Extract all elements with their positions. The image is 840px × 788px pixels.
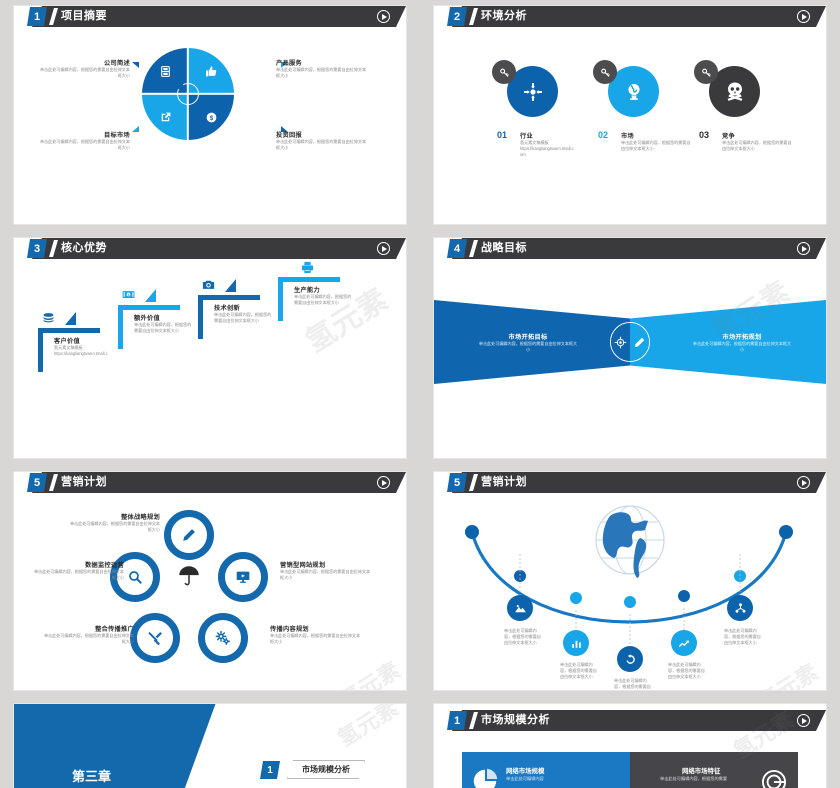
slide-5-canvas: 5 营销计划 整体战略 (14, 472, 406, 690)
flower-label-content-desc: 单击此处可编辑内容，根据您的需要自由拉伸文本框大小 (270, 633, 362, 645)
panel-market-feature[interactable]: 网络市场特征 单击此处可编辑内容，根据您的需要 (630, 752, 798, 788)
arc-icon-1[interactable] (563, 630, 589, 656)
step-3-desc: 单击此处可编辑内容，根据您的需要自由拉伸文本框大小 (214, 312, 272, 324)
step-3-title: 技术创新 (214, 303, 272, 312)
label-product-title: 产品服务 (276, 58, 368, 67)
flower-label-strategy-title: 整体战略规划 (68, 512, 160, 521)
flower-label-promotion: 整合传播推广 单击此处可编辑内容，根据您的需要自由拉伸文本框大小 (42, 624, 134, 645)
flower-label-website: 营销型网站规划 单击此处可编辑内容，根据您的需要自由拉伸文本框大小 (280, 560, 372, 581)
step-2-icon-wrap: $ (121, 287, 136, 302)
slide-3-canvas: 3 核心优势 客户价值 氢元素文稿模板 https://kangliangtuw… (14, 238, 406, 458)
label-company: 公司简述 单击此处可编辑内容，根据您的需要自由拉伸文本框大小 (38, 58, 130, 79)
mountain-icon (514, 602, 527, 615)
play-icon[interactable] (797, 242, 810, 255)
play-icon[interactable] (797, 476, 810, 489)
page-title: 市场规模分析 (481, 710, 550, 731)
caption-industry-title: 行业 (520, 131, 592, 140)
flower-label-promotion-title: 整合传播推广 (42, 624, 134, 633)
watermark: 氢元素 (331, 704, 404, 753)
pointer-top-left (132, 62, 139, 68)
bowtie-left-desc: 单击此处可编辑内容，根据您的需要自由拉伸文本框大小 (478, 341, 578, 353)
pencil-icon (633, 336, 646, 349)
play-icon[interactable] (797, 714, 810, 727)
key-badge-3 (694, 60, 718, 84)
arc-node-3 (624, 596, 636, 608)
slide-2-canvas: 2 环境分析 (434, 6, 826, 224)
caption-competition-title: 竞争 (722, 131, 794, 140)
arrows-center-icon (521, 80, 545, 104)
step-1-stem (38, 328, 43, 372)
label-product-desc: 单击此处可编辑内容，根据您的需要自由拉伸文本框大小 (276, 67, 368, 79)
arc-icon-2[interactable] (617, 646, 643, 672)
step-2-title: 额外价值 (134, 313, 192, 322)
slide-2-header: 2 环境分析 (434, 6, 826, 27)
play-icon[interactable] (797, 10, 810, 23)
umbrella-icon (176, 563, 202, 589)
arc-node-6 (779, 525, 793, 539)
target-icon (614, 336, 627, 349)
slide-4[interactable]: 4 战略目标 市场开拓目标 单击此处可编辑内 (420, 232, 840, 466)
slide-number-badge: 5 (27, 473, 47, 492)
line-chart-icon (678, 637, 691, 650)
camera-icon (201, 277, 216, 292)
key-badge-1 (492, 60, 516, 84)
slide-1-header: 1 项目摘要 (14, 6, 406, 27)
bowtie-left-caption: 市场开拓目标 单击此处可编辑内容，根据您的需要自由拉伸文本框大小 (478, 332, 578, 353)
bowtie-right-caption: 市场开拓规划 单击此处可编辑内容，根据您的需要自由拉伸文本框大小 (692, 332, 792, 353)
pointer-bottom-left (132, 126, 139, 132)
key-icon (499, 67, 510, 78)
arc-caption-3: 单击此处可编辑内容，根据您的需要自由拉伸文本框大小 (668, 662, 706, 680)
slide-number-badge: 2 (447, 7, 467, 26)
external-link-icon (159, 111, 172, 124)
caption-competition-desc: 单击此处可编辑内容，根据您的需要自由拉伸文本框大小 (722, 140, 794, 152)
bowtie-center-left (611, 323, 630, 361)
panel-market-size[interactable]: 网络市场规模 单击此处可编辑内容 (462, 752, 630, 788)
slide-7[interactable]: 第三章 1 市场规模分析 氢元素 (0, 698, 420, 788)
flower-label-promotion-desc: 单击此处可编辑内容，根据您的需要自由拉伸文本框大小 (42, 633, 134, 645)
number-02: 02 (598, 130, 608, 140)
quadrant-pie-chart: $ (142, 48, 234, 140)
slide-5[interactable]: 5 营销计划 整体战略 (0, 466, 420, 698)
flower-label-content-title: 传播内容规划 (270, 624, 362, 633)
slide-1[interactable]: 1 项目摘要 $ (0, 0, 420, 232)
panel-market-feature-title: 网络市场特征 (682, 766, 720, 775)
chapter-heading: 第三章 (72, 766, 111, 785)
step-3-icon-wrap (201, 277, 216, 292)
arc-node-2 (570, 592, 582, 604)
search-icon (127, 569, 143, 585)
circle-target-icon-wrap (760, 768, 788, 788)
caption-market-title: 市场 (621, 131, 693, 140)
page-title: 战略目标 (481, 238, 527, 259)
step-4-icon-wrap (300, 260, 315, 275)
thumbs-up-icon (205, 65, 218, 78)
printer-icon (300, 260, 315, 275)
caption-market-desc: 单击此处可编辑内容，根据您的需要自由拉伸文本框大小 (621, 140, 693, 152)
arc-caption-4: 单击此处可编辑内容，根据您的需要自由拉伸文本框大小 (724, 628, 762, 646)
label-roi-desc: 单击此处可编辑内容，根据您的需要自由拉伸文本框大小 (276, 139, 368, 151)
slide-grid: 1 项目摘要 $ (0, 0, 840, 788)
step-1-line2: https://kangliangtuwen.tmall.c (54, 351, 112, 357)
step-3-stem (198, 295, 203, 339)
arc-caption-0: 单击此处可编辑内容，根据您的需要自由拉伸文本框大小 (504, 628, 542, 646)
slide-8-canvas: 1 市场规模分析 网络市场规模 单击此处可编辑内容 网络市场特征 单击此处可编辑… (434, 704, 826, 788)
duo-panel: 网络市场规模 单击此处可编辑内容 网络市场特征 单击此处可编辑内容，根据您的需要 (462, 752, 798, 788)
slide-3[interactable]: 3 核心优势 客户价值 氢元素文稿模板 https://kangliangtuw… (0, 232, 420, 466)
label-company-desc: 单击此处可编辑内容，根据您的需要自由拉伸文本框大小 (38, 67, 130, 79)
panel-market-size-desc: 单击此处可编辑内容 (506, 776, 596, 782)
slide-number-badge: 5 (447, 473, 467, 492)
arc-icon-3[interactable] (671, 630, 697, 656)
bowtie-center-circle (610, 322, 650, 362)
flower-label-data-title: 数据监控运营 (32, 560, 124, 569)
slide-6[interactable]: 5 营销计划 (420, 466, 840, 698)
slide-number-badge: 1 (27, 7, 47, 26)
slide-number-badge: 3 (27, 239, 47, 258)
globe-illustration (596, 506, 664, 578)
chapter-blue-shape (14, 704, 218, 788)
bowtie-center-right (630, 323, 649, 361)
flower-label-website-title: 营销型网站规划 (280, 560, 372, 569)
refresh-icon (624, 653, 637, 666)
flower-label-website-desc: 单击此处可编辑内容，根据您的需要自由拉伸文本框大小 (280, 569, 372, 581)
pie-segment-icon (470, 766, 500, 788)
step-4-bar (278, 277, 340, 282)
key-badge-2 (593, 60, 617, 84)
film-icon (159, 65, 172, 78)
slide-8[interactable]: 1 市场规模分析 网络市场规模 单击此处可编辑内容 网络市场特征 单击此处可编辑… (420, 698, 840, 788)
pencil-icon (181, 527, 197, 543)
caption-industry: 行业 氢元素文稿模板 https://kangliangtuwen.tmall.… (520, 131, 592, 158)
arc-node-4 (678, 590, 690, 602)
step-4-caption: 生产能力 单击此处可编辑内容，根据您的需要自由拉伸文本框大小 (294, 285, 352, 306)
flower-label-data-desc: 单击此处可编辑内容，根据您的需要自由拉伸文本框大小 (32, 569, 124, 581)
page-title: 营销计划 (61, 472, 107, 493)
pie-segment-icon-wrap (470, 766, 500, 788)
panel-market-feature-desc: 单击此处可编辑内容，根据您的需要 (660, 776, 760, 782)
slide-number-badge: 1 (447, 711, 467, 730)
tools-icon (147, 630, 163, 646)
caption-competition: 竞争 单击此处可编辑内容，根据您的需要自由拉伸文本框大小 (722, 131, 794, 152)
slide-2[interactable]: 2 环境分析 (420, 0, 840, 232)
step-2-caption: 额外价值 单击此处可编辑内容，根据您的需要自由拉伸文本框大小 (134, 313, 192, 334)
label-target-market-title: 目标市场 (38, 130, 130, 139)
panel-market-size-title: 网络市场规模 (506, 766, 544, 775)
step-1-caption: 客户价值 氢元素文稿模板 https://kangliangtuwen.tmal… (54, 336, 112, 357)
petal-content[interactable] (198, 613, 248, 663)
page-title: 环境分析 (481, 6, 527, 27)
play-icon[interactable] (377, 242, 390, 255)
flower-label-data: 数据监控运营 单击此处可编辑内容，根据您的需要自由拉伸文本框大小 (32, 560, 124, 581)
network-icon (734, 602, 747, 615)
slide-5-header: 5 营销计划 (14, 472, 406, 493)
slide-7-canvas: 第三章 1 市场规模分析 氢元素 (14, 704, 406, 788)
petal-strategy[interactable] (164, 510, 214, 560)
gears-icon (215, 630, 231, 646)
play-icon[interactable] (377, 476, 390, 489)
petal-website[interactable] (218, 552, 268, 602)
flower-label-strategy-desc: 单击此处可编辑内容，根据您的需要自由拉伸文本框大小 (68, 521, 160, 533)
slide-4-canvas: 4 战略目标 市场开拓目标 单击此处可编辑内 (434, 238, 826, 458)
arc-icon-4[interactable] (727, 595, 753, 621)
page-title: 项目摘要 (61, 6, 107, 27)
chapter-tag-label: 市场规模分析 (287, 760, 365, 779)
key-icon (701, 67, 712, 78)
step-2-stem (118, 305, 123, 349)
slide-8-header: 1 市场规模分析 (434, 710, 826, 731)
chapter-tag-number: 1 (260, 761, 280, 779)
dollar-coin-icon: $ (205, 111, 218, 124)
slide-3-header: 3 核心优势 (14, 238, 406, 259)
arc-icon-0[interactable] (507, 595, 533, 621)
step-1-icon-wrap (41, 310, 56, 325)
slide-6-canvas: 5 营销计划 (434, 472, 826, 690)
arc-caption-1: 单击此处可编辑内容，根据您的需要自由拉伸文本框大小 (560, 662, 598, 680)
slide-1-canvas: 1 项目摘要 $ (14, 6, 406, 224)
caption-industry-line3: om (520, 152, 592, 158)
flower-label-content: 传播内容规划 单击此处可编辑内容，根据您的需要自由拉伸文本框大小 (270, 624, 362, 645)
bowtie-right-desc: 单击此处可编辑内容，根据您的需要自由拉伸文本框大小 (692, 341, 792, 353)
step-1-bar (38, 328, 100, 333)
page-title: 核心优势 (61, 238, 107, 259)
label-target-market-desc: 单击此处可编辑内容，根据您的需要自由拉伸文本框大小 (38, 139, 130, 151)
slide-number-badge: 4 (447, 239, 467, 258)
step-3-bar (198, 295, 260, 300)
caption-market: 市场 单击此处可编辑内容，根据您的需要自由拉伸文本框大小 (621, 131, 693, 152)
step-2-desc: 单击此处可编辑内容，根据您的需要自由拉伸文本框大小 (134, 322, 192, 334)
skull-icon (723, 80, 747, 104)
arc-node-0 (465, 525, 479, 539)
money-bill-icon: $ (121, 287, 136, 302)
circle-target-icon (760, 768, 788, 788)
globe-stand-icon (622, 80, 646, 104)
petal-promotion[interactable] (130, 613, 180, 663)
monitor-play-icon (235, 569, 251, 585)
step-4-desc: 单击此处可编辑内容，根据您的需要自由拉伸文本框大小 (294, 294, 352, 306)
step-4-stem (278, 277, 283, 321)
bowtie-right-title: 市场开拓规划 (692, 332, 792, 341)
step-1-title: 客户价值 (54, 336, 112, 345)
step-3-caption: 技术创新 单击此处可编辑内容，根据您的需要自由拉伸文本框大小 (214, 303, 272, 324)
label-target-market: 目标市场 单击此处可编辑内容，根据您的需要自由拉伸文本框大小 (38, 130, 130, 151)
svg-text:$: $ (128, 293, 130, 297)
label-roi: 投资回报 单击此处可编辑内容，根据您的需要自由拉伸文本框大小 (276, 130, 368, 151)
label-company-title: 公司简述 (38, 58, 130, 67)
quadrant-company[interactable] (142, 48, 188, 94)
coins-icon (41, 310, 56, 325)
slide-6-header: 5 营销计划 (434, 472, 826, 493)
bar-chart-icon (570, 637, 583, 650)
step-4-title: 生产能力 (294, 285, 352, 294)
play-icon[interactable] (377, 10, 390, 23)
flower-label-strategy: 整体战略规划 单击此处可编辑内容，根据您的需要自由拉伸文本框大小 (68, 512, 160, 533)
number-01: 01 (497, 130, 507, 140)
slide-4-header: 4 战略目标 (434, 238, 826, 259)
watermark: 氢元素 (333, 653, 406, 690)
bowtie-left-title: 市场开拓目标 (478, 332, 578, 341)
flower-center (169, 556, 209, 596)
number-03: 03 (699, 130, 709, 140)
step-2-bar (118, 305, 180, 310)
label-roi-title: 投资回报 (276, 130, 368, 139)
step-2-arrow (145, 289, 156, 302)
step-3-arrow (225, 279, 236, 292)
page-title: 营销计划 (481, 472, 527, 493)
label-product: 产品服务 单击此处可编辑内容，根据您的需要自由拉伸文本框大小 (276, 58, 368, 79)
step-1-arrow (65, 312, 76, 325)
key-icon (600, 67, 611, 78)
arc-caption-2: 单击此处可编辑内容，根据您的需要自由拉伸文本框大小 (614, 678, 652, 690)
